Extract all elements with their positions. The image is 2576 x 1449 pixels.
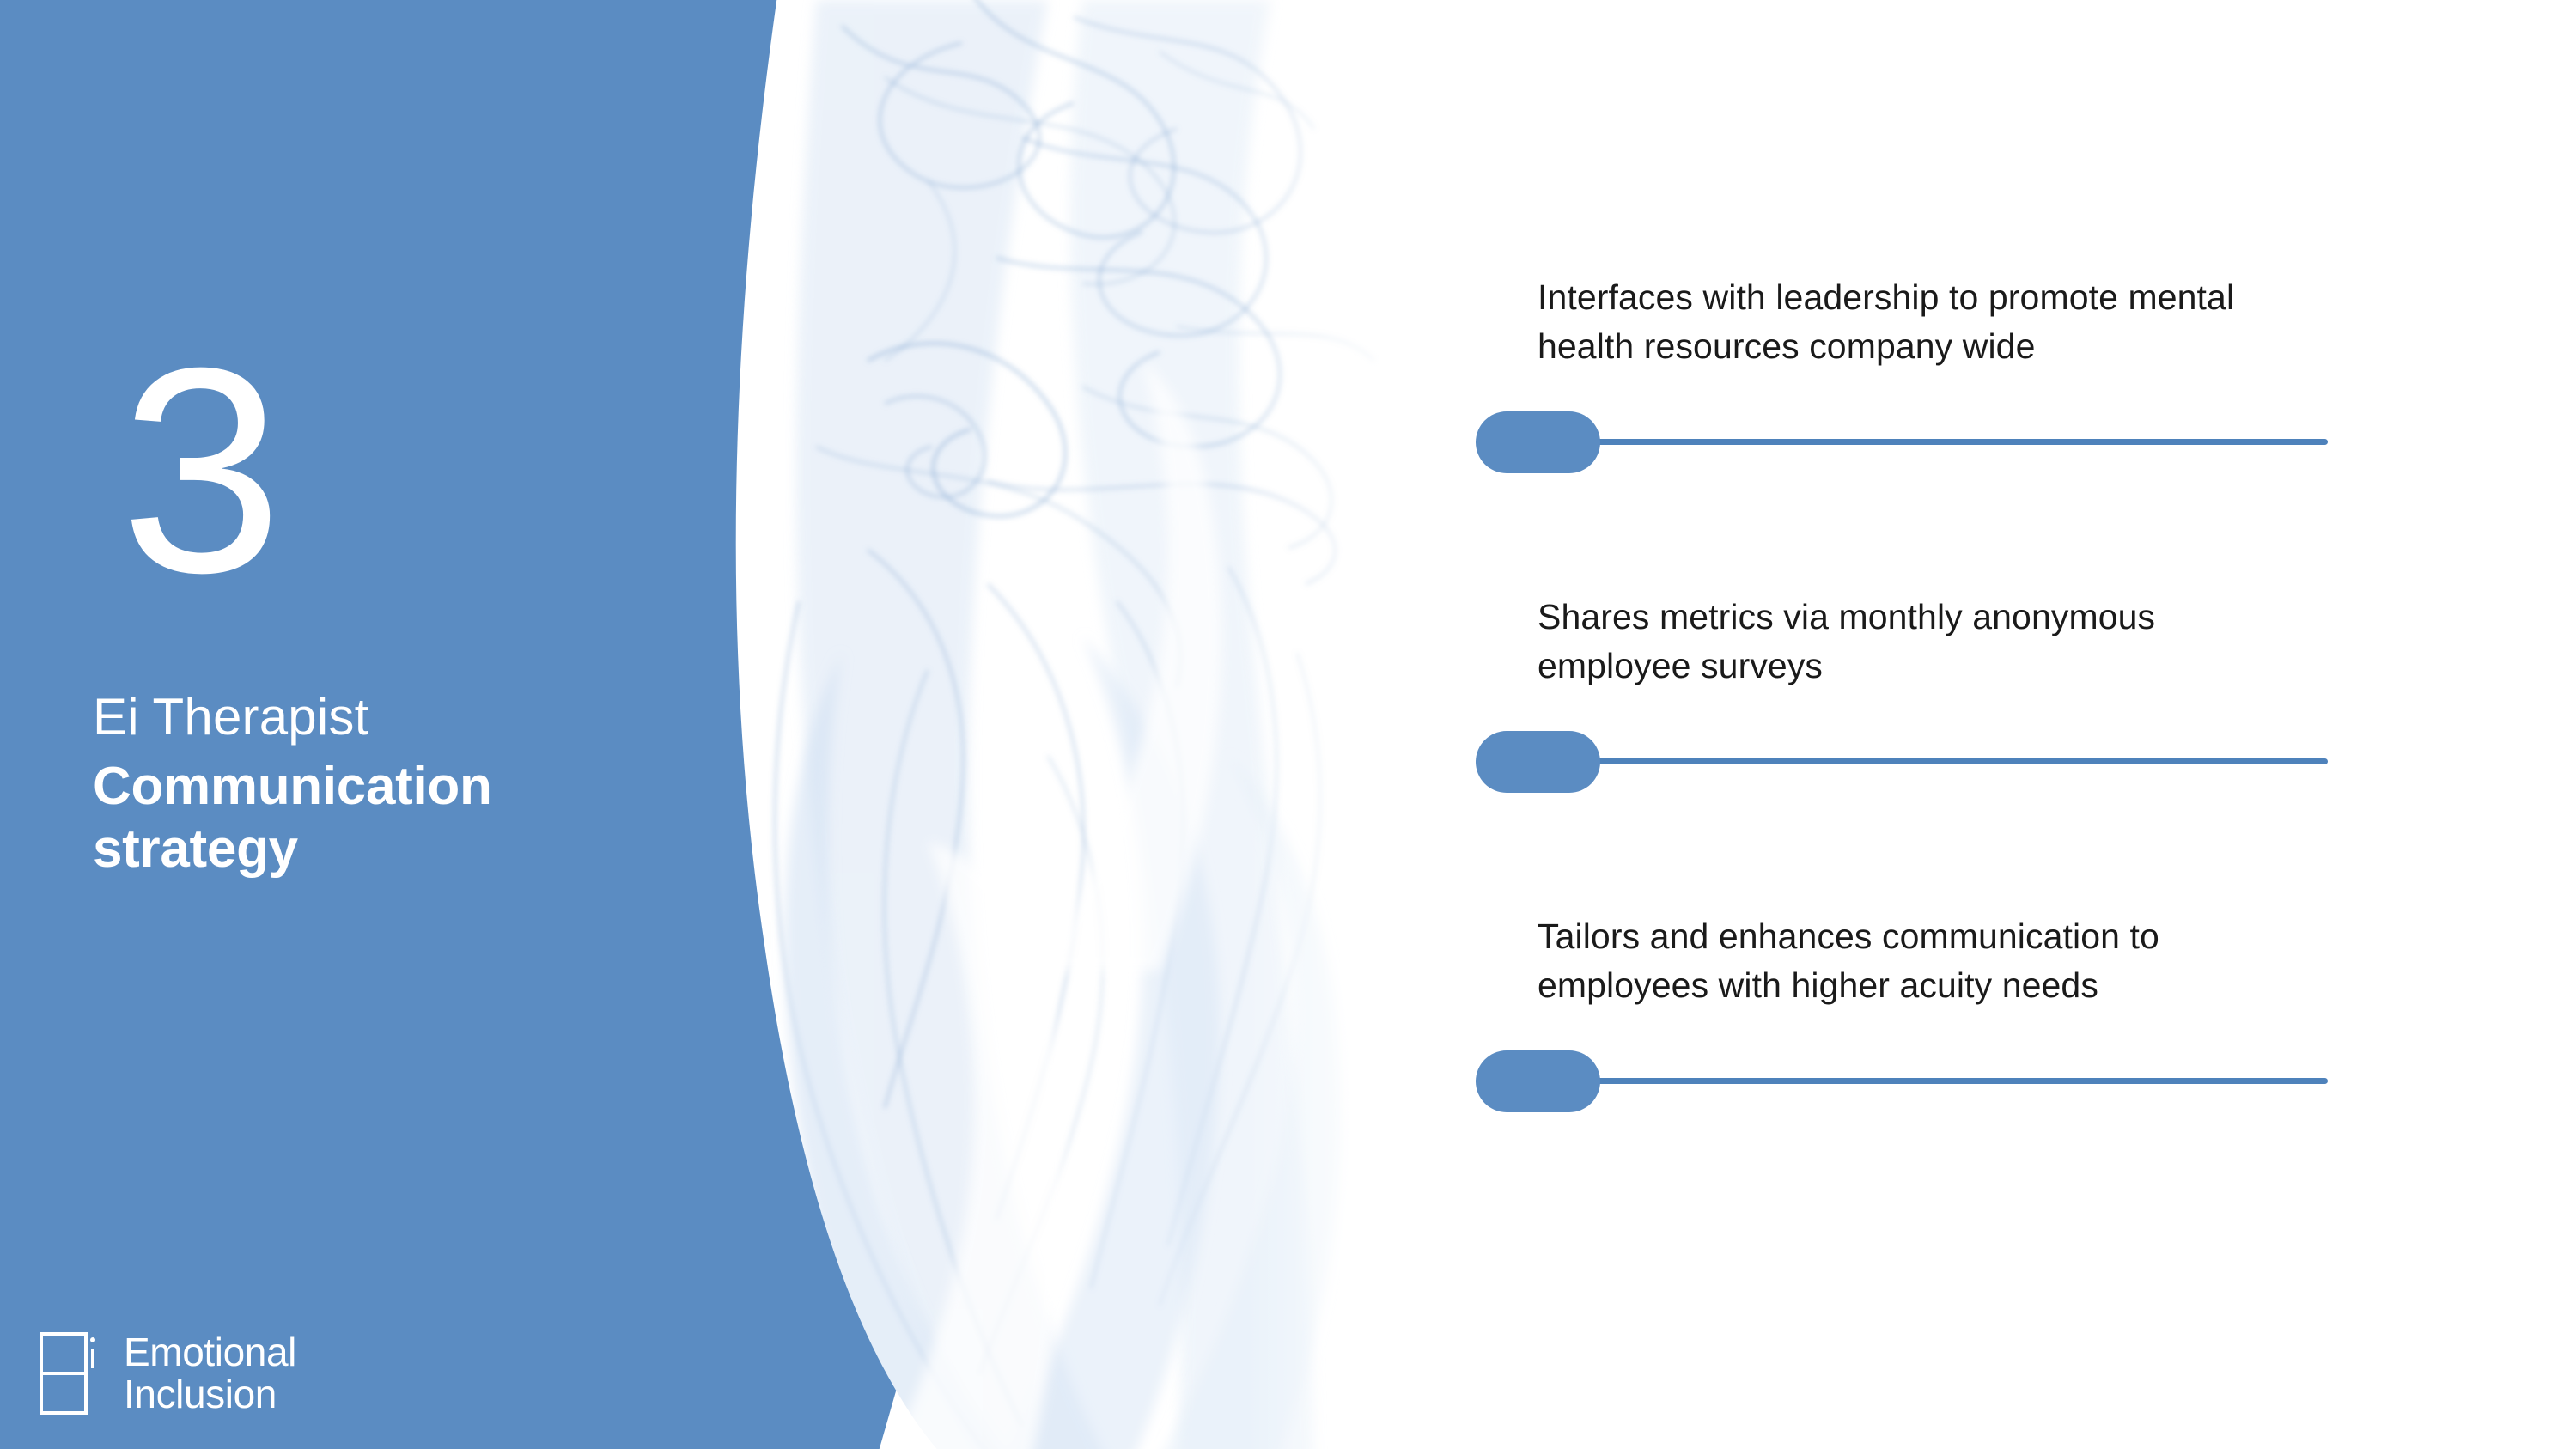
list-item-label: Shares metrics via monthly anonymous emp… [1538,593,2311,690]
list-item: Interfaces with leadership to promote me… [1417,273,2362,474]
slider-thumb[interactable] [1476,731,1600,793]
smoke-artwork [713,0,1417,1449]
slide: 3 Ei Therapist Communication strategy Em… [0,0,2576,1449]
list-item: Shares metrics via monthly anonymous emp… [1417,593,2362,794]
logo-wordmark: Emotional Inclusion [124,1331,296,1416]
slider-track[interactable] [1476,439,2328,445]
list-item-label: Interfaces with leadership to promote me… [1538,273,2311,370]
slider-control[interactable] [1417,1048,2328,1113]
right-panel: Interfaces with leadership to promote me… [1417,0,2576,1449]
list-item: Tailors and enhances communication to em… [1417,912,2362,1113]
list-item-label: Tailors and enhances communication to em… [1538,912,2311,1009]
slider-track[interactable] [1476,758,2328,764]
slider-track[interactable] [1476,1078,2328,1084]
slider-thumb[interactable] [1476,1050,1600,1112]
emotional-inclusion-mark-icon [38,1329,105,1418]
brand-logo: Emotional Inclusion [38,1329,296,1418]
slider-control[interactable] [1417,728,2328,794]
slider-control[interactable] [1417,409,2328,474]
slider-thumb[interactable] [1476,411,1600,473]
